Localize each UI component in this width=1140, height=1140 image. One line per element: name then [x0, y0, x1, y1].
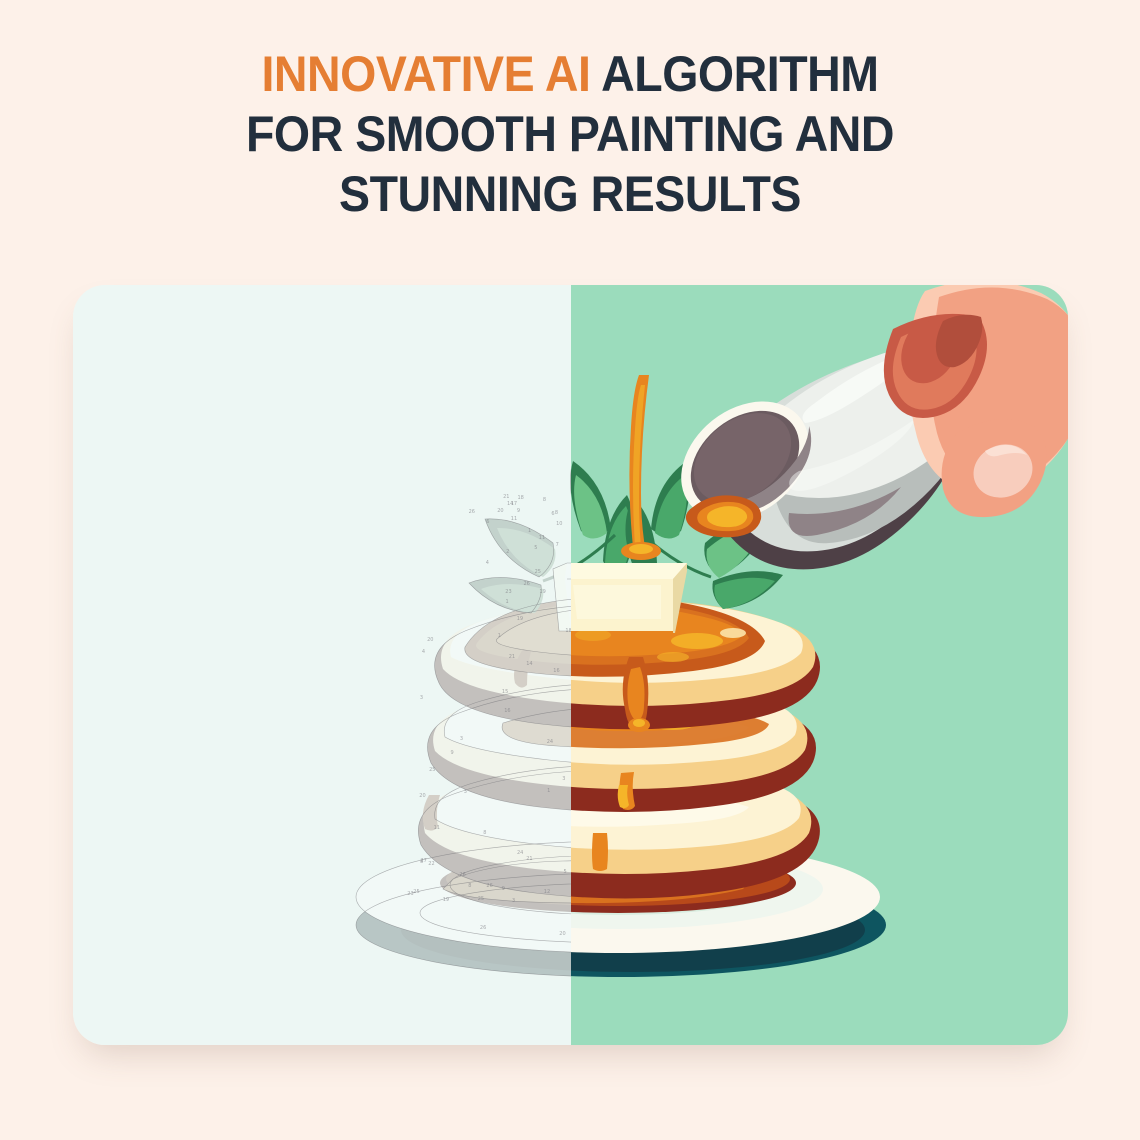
headline-line-3: STUNNING RESULTS	[40, 164, 1100, 224]
pancake-illustration-colored	[571, 285, 1068, 1045]
headline-accent: INNOVATIVE AI	[261, 46, 590, 102]
headline-line-2: FOR SMOOTH PAINTING AND	[40, 104, 1100, 164]
right-panel-painted	[571, 285, 1068, 1045]
left-panel-outline: 8202023272523252712532232314212629131023…	[73, 285, 571, 1045]
comparison-card: 8202023272523252712532232314212629131023…	[73, 285, 1068, 1045]
page-title: INNOVATIVE AI ALGORITHM FOR SMOOTH PAINT…	[40, 44, 1100, 224]
headline-line-1-rest: ALGORITHM	[590, 46, 878, 102]
pancake-illustration-outline	[73, 285, 571, 1045]
headline-line-1: INNOVATIVE AI ALGORITHM	[40, 44, 1100, 104]
